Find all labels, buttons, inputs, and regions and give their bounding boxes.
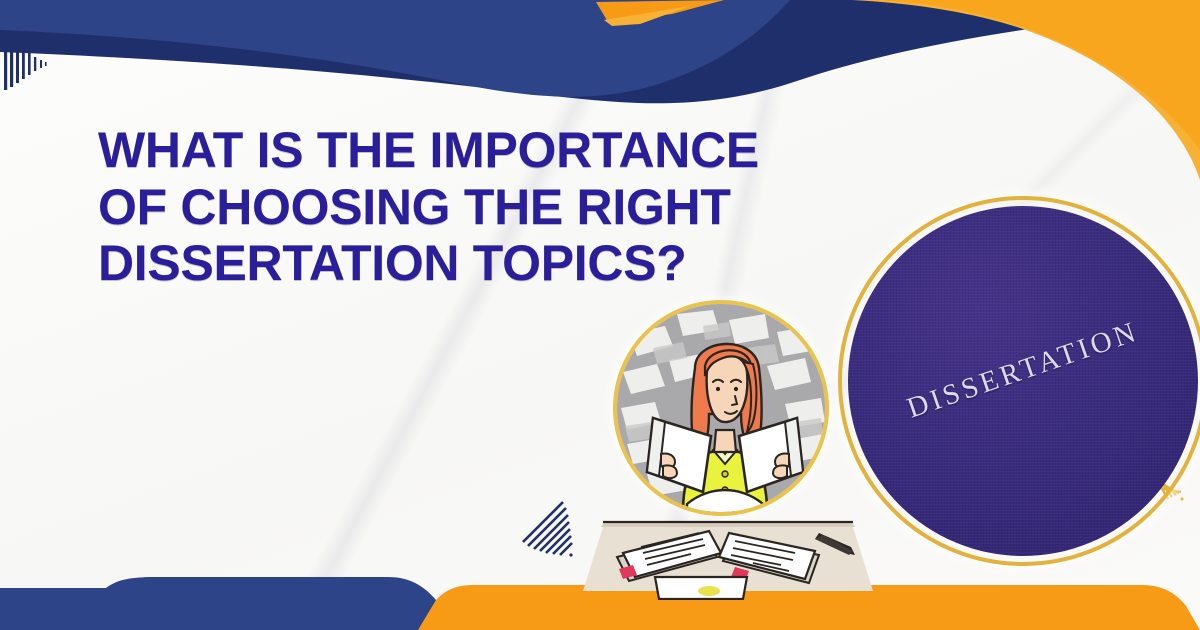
dissertation-circle: DISSERTATION	[838, 196, 1200, 566]
navy-trapezoid-bottom-left	[0, 577, 452, 630]
illustration-circle-ring	[613, 300, 829, 516]
desk-with-documents-icon	[583, 495, 873, 600]
page-title: WHAT IS THE IMPORTANCE OF CHOOSING THE R…	[98, 122, 798, 292]
illustration-woman-reading	[613, 300, 829, 516]
woman-reading-illustration-icon	[617, 304, 829, 516]
banner-canvas: WHAT IS THE IMPORTANCE OF CHOOSING THE R…	[0, 0, 1200, 630]
striped-triangle-top-left-icon	[4, 38, 54, 90]
striped-triangle-bottom-left-icon	[519, 500, 577, 560]
